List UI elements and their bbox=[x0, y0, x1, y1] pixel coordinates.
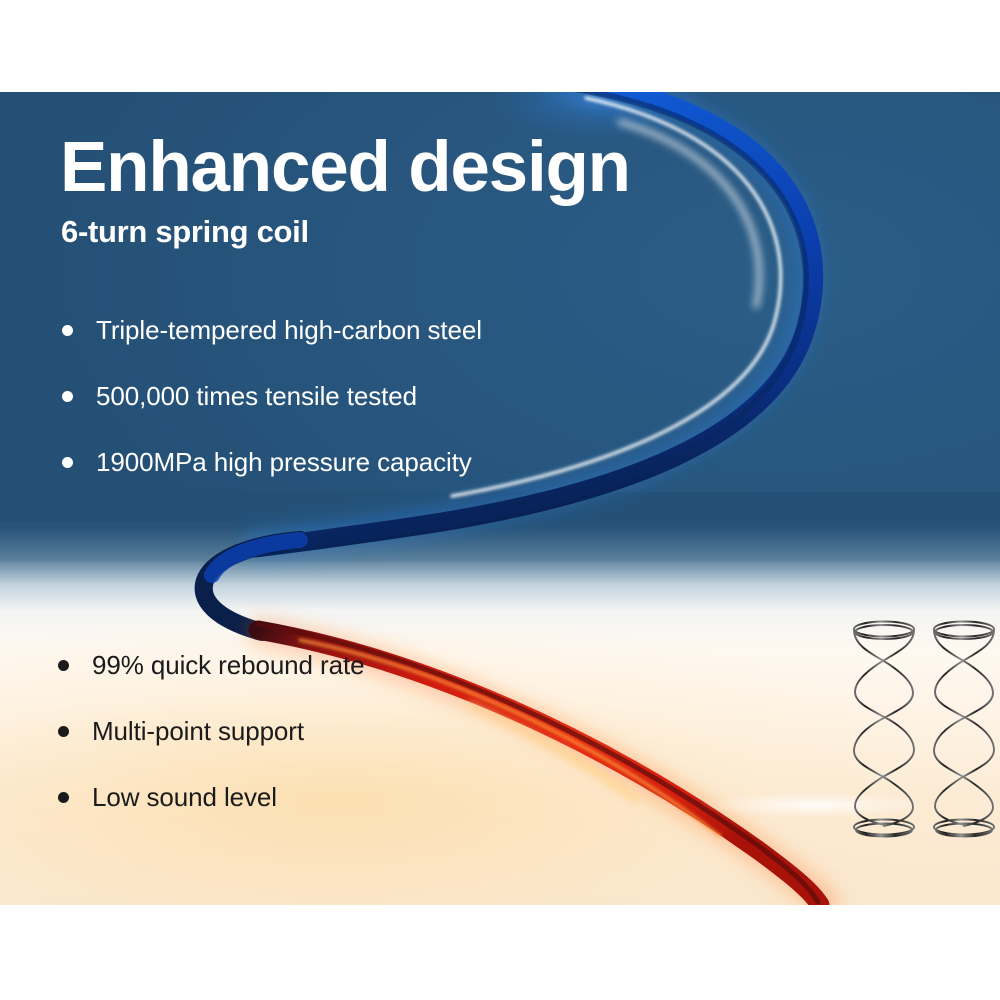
bullet-dot-icon bbox=[62, 325, 73, 336]
product-feature-graphic: Enhanced design 6-turn spring coil Tripl… bbox=[0, 0, 1000, 1000]
feature-list-bottom: 99% quick rebound rate Multi-point suppo… bbox=[58, 632, 578, 830]
list-item: 500,000 times tensile tested bbox=[62, 363, 622, 429]
page-subtitle: 6-turn spring coil bbox=[61, 214, 309, 250]
list-item-label: Low sound level bbox=[92, 782, 277, 813]
list-item: Triple-tempered high-carbon steel bbox=[62, 297, 622, 363]
bullet-dot-icon bbox=[58, 726, 69, 737]
list-item-label: 1900MPa high pressure capacity bbox=[96, 447, 472, 478]
list-item-label: 500,000 times tensile tested bbox=[96, 381, 417, 412]
list-item: 1900MPa high pressure capacity bbox=[62, 429, 622, 495]
list-item: 99% quick rebound rate bbox=[58, 632, 578, 698]
bullet-dot-icon bbox=[58, 792, 69, 803]
feature-list-top: Triple-tempered high-carbon steel 500,00… bbox=[62, 297, 622, 495]
list-item: Low sound level bbox=[58, 764, 578, 830]
bullet-dot-icon bbox=[62, 457, 73, 468]
list-item-label: Multi-point support bbox=[92, 716, 304, 747]
list-item-label: Triple-tempered high-carbon steel bbox=[96, 315, 482, 346]
coil-springs bbox=[845, 617, 1000, 847]
page-title: Enhanced design bbox=[60, 132, 630, 203]
list-item: Multi-point support bbox=[58, 698, 578, 764]
list-item-label: 99% quick rebound rate bbox=[92, 650, 364, 681]
artwork-panel: Enhanced design 6-turn spring coil Tripl… bbox=[0, 92, 1000, 905]
bullet-dot-icon bbox=[62, 391, 73, 402]
bullet-dot-icon bbox=[58, 660, 69, 671]
